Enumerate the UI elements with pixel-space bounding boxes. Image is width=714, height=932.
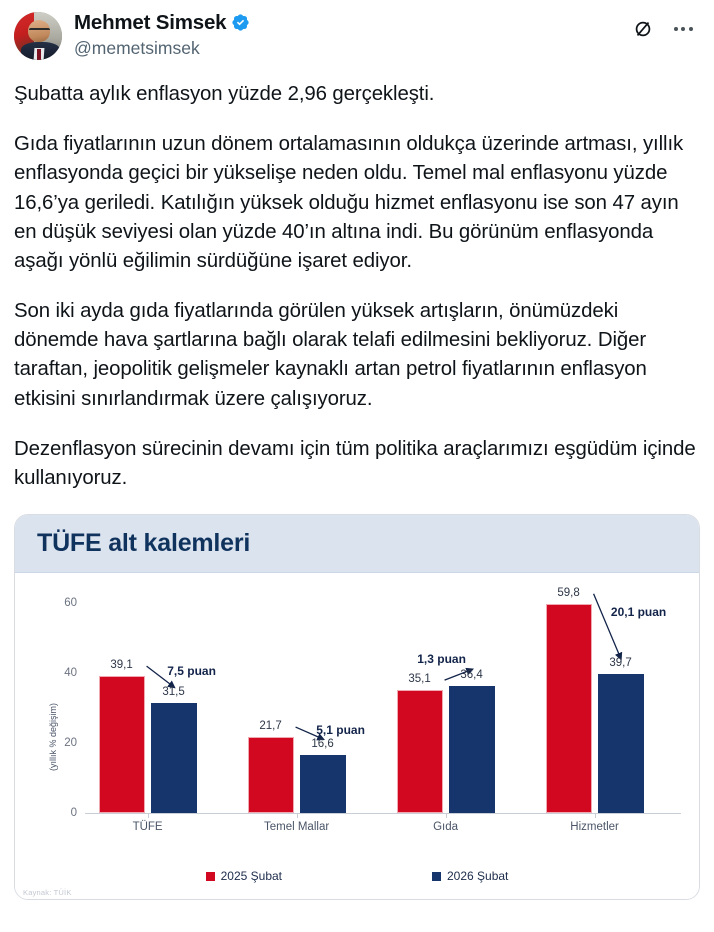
y-axis: 0204060(yıllık % değişim) [45, 573, 81, 900]
bar-navy [598, 674, 644, 813]
verified-badge-icon [231, 13, 250, 32]
x-axis-category-label: TÜFE [133, 821, 163, 833]
y-axis-title: (yıllık % değişim) [48, 703, 58, 771]
account-handle[interactable]: @memetsimsek [74, 37, 630, 60]
legend-label: 2025 Şubat [221, 869, 282, 883]
bar-value-label: 31,5 [162, 686, 184, 698]
bar-value-label: 21,7 [259, 720, 281, 732]
y-axis-tick-label: 40 [45, 667, 81, 679]
more-options-icon[interactable] [670, 16, 696, 42]
x-axis-tick [446, 813, 447, 818]
x-axis-tick [297, 813, 298, 818]
delta-annotation-label: 7,5 puan [167, 664, 216, 678]
y-axis-tick-label: 60 [45, 597, 81, 609]
x-axis-tick [148, 813, 149, 818]
x-axis-category-label: Gıda [433, 821, 458, 833]
account-names: Mehmet Simsek @memetsimsek [74, 10, 630, 59]
chart-title: TÜFE alt kalemleri [37, 529, 250, 558]
grok-icon[interactable] [630, 16, 656, 42]
tweet-paragraph-2: Gıda fiyatlarının uzun dönem ortalamasın… [14, 130, 700, 276]
avatar[interactable] [14, 12, 62, 60]
legend-label: 2026 Şubat [447, 869, 508, 883]
y-axis-tick-label: 0 [45, 807, 81, 819]
bar-value-label: 35,1 [408, 673, 430, 685]
avatar-glasses [29, 28, 50, 32]
bar-red [397, 690, 443, 813]
bar-value-label: 16,6 [311, 738, 333, 750]
x-axis-line [85, 813, 681, 814]
more-dots [674, 27, 693, 31]
tweet-text: Şubatta aylık enflasyon yüzde 2,96 gerçe… [0, 72, 714, 493]
delta-annotation-label: 1,3 puan [417, 652, 466, 666]
bar-red [546, 604, 592, 813]
tweet-paragraph-4: Dezenflasyon sürecinin devamı için tüm p… [14, 435, 700, 493]
x-axis-category-label: Hizmetler [570, 821, 619, 833]
tweet-header: Mehmet Simsek @memetsimsek [0, 0, 714, 72]
bar-navy [151, 703, 197, 813]
legend-item[interactable]: 2025 Şubat [206, 869, 282, 883]
bar-value-label: 59,8 [557, 587, 579, 599]
legend-item[interactable]: 2026 Şubat [432, 869, 508, 883]
display-name-row: Mehmet Simsek [74, 11, 630, 35]
bar-value-label: 39,1 [110, 659, 132, 671]
display-name[interactable]: Mehmet Simsek [74, 11, 226, 35]
tweet-paragraph-3: Son iki ayda gıda fiyatlarında görülen y… [14, 297, 700, 414]
bar-navy [300, 755, 346, 813]
chart-plot-area: 2025 Şubat2026 Şubat Kaynak: TÜİK 020406… [15, 573, 699, 900]
grok-glyph [632, 18, 654, 40]
chart-legend: 2025 Şubat2026 Şubat [15, 869, 699, 883]
legend-swatch [432, 872, 441, 881]
bar-navy [449, 686, 495, 813]
bar-value-label: 36,4 [460, 669, 482, 681]
legend-swatch [206, 872, 215, 881]
bar-red [248, 737, 294, 813]
delta-annotation-label: 5,1 puan [316, 723, 365, 737]
x-axis-tick [595, 813, 596, 818]
avatar-tie [37, 49, 41, 60]
x-axis-category-label: Temel Mallar [264, 821, 329, 833]
bar-value-label: 39,7 [609, 657, 631, 669]
bar-red [99, 676, 145, 813]
delta-annotation-label: 20,1 puan [611, 605, 666, 619]
tweet-paragraph-1: Şubatta aylık enflasyon yüzde 2,96 gerçe… [14, 80, 700, 109]
header-actions [630, 10, 700, 42]
chart-header: TÜFE alt kalemleri [15, 515, 699, 573]
chart-card[interactable]: TÜFE alt kalemleri 2025 Şubat2026 Şubat … [14, 514, 700, 900]
